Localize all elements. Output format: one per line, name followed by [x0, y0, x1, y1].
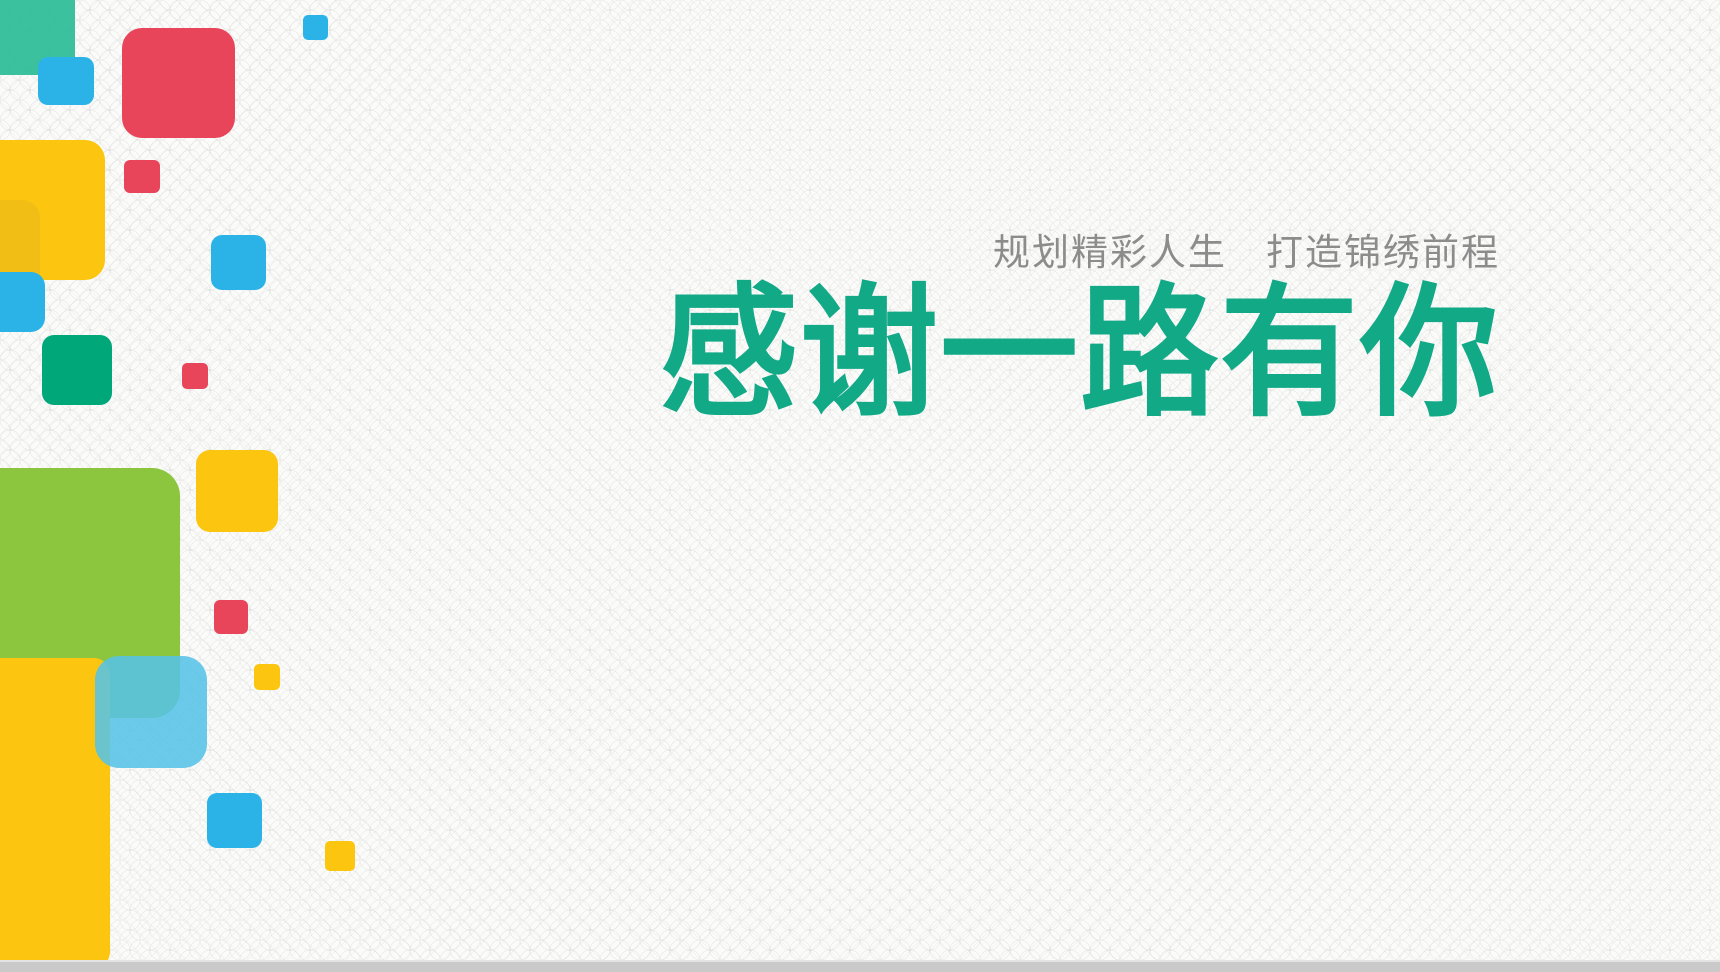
red-square-small-bottom — [214, 600, 248, 634]
presentation-slide: 规划精彩人生 打造锦绣前程 感谢一路有你 — [0, 0, 1720, 972]
deep-teal-square-left — [42, 335, 112, 405]
red-square-small-top — [124, 160, 160, 193]
slide-text-block: 规划精彩人生 打造锦绣前程 感谢一路有你 — [640, 230, 1500, 420]
blue-square-tiny-top — [303, 15, 328, 40]
yellow-square-bottom-left — [0, 658, 110, 968]
slide-subtitle: 规划精彩人生 打造锦绣前程 — [640, 230, 1500, 276]
blue-square-topleft — [38, 57, 94, 105]
yellow-square-tiny-bottom — [325, 841, 355, 871]
slide-title: 感谢一路有你 — [640, 282, 1500, 426]
blue-square-mid — [211, 235, 266, 290]
blue-square-bottom — [207, 793, 262, 848]
yellow-square-tiny-mid — [254, 664, 280, 690]
yellow-square-mid — [196, 450, 278, 532]
bottom-chrome-band — [0, 962, 1720, 972]
blue-square-left-edge — [0, 272, 45, 332]
red-square-large-top — [122, 28, 235, 138]
light-blue-square-bottom — [95, 656, 207, 768]
red-square-tiny-mid — [182, 363, 208, 389]
